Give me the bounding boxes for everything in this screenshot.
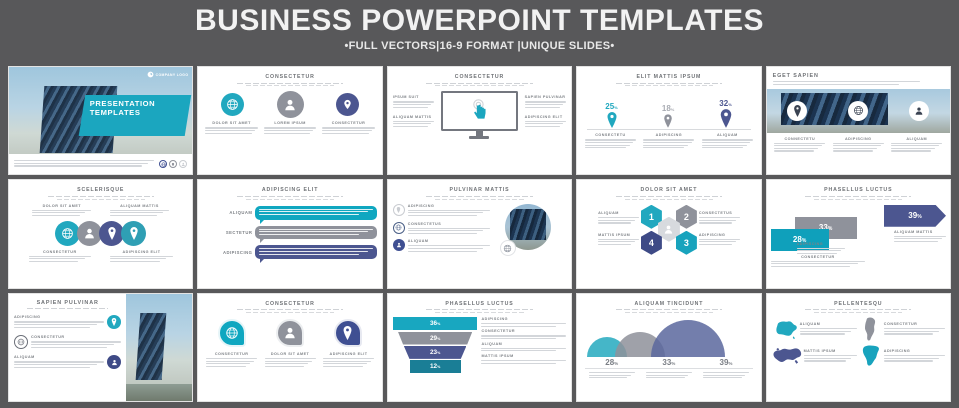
- africa-map-icon: [860, 344, 882, 368]
- item-body: [598, 217, 639, 223]
- bubble-tail: [260, 258, 265, 263]
- pin-icon[interactable]: [336, 93, 359, 116]
- title-underline: [616, 83, 722, 84]
- value-unit: %: [437, 337, 440, 341]
- item-body: [771, 261, 866, 267]
- map-cell[interactable]: CONSECTETUR: [860, 317, 945, 341]
- pin-item[interactable]: 25%: [605, 102, 617, 128]
- circle-labels: DOLOR SIT AMET LOREM IPSUM CONSECTETUR: [198, 118, 381, 135]
- item-label: ADIPISCING ELIT: [525, 115, 567, 119]
- hex-number: 2: [684, 212, 689, 222]
- list-item: ADIPISCING: [481, 317, 566, 327]
- bubble-text: [259, 229, 372, 235]
- title-underline: [426, 83, 532, 84]
- item-body: [884, 328, 945, 334]
- circle-row: [198, 91, 381, 118]
- item-body: [702, 139, 753, 148]
- hex-number: 4: [649, 238, 654, 248]
- round-photo-wrap: [490, 204, 566, 253]
- item-label: MATTIS IPSUM: [598, 233, 639, 237]
- item-body: [32, 210, 91, 216]
- arrow-stack: 39% 33% 28% ALIQUAM MATTIS ADIPISCING: [767, 203, 950, 255]
- left-labels: ALIQUAM MATTIS IPSUM: [598, 211, 639, 246]
- title-underline: [426, 309, 532, 310]
- title-underline: [805, 196, 911, 197]
- slide-presentation-cover[interactable]: COMPANY LOGO PRESENTATION TEMPLATES: [8, 66, 193, 175]
- list-item: ALIQUAM MATTIS: [110, 204, 169, 218]
- slide-aliquam-tincidunt[interactable]: ALIQUAM TINCIDUNT 28% 33% 39%: [576, 293, 761, 402]
- value-number: 32: [719, 99, 728, 108]
- user-icon[interactable]: [277, 91, 304, 118]
- slide-dolor-sit-amet-hex[interactable]: DOLOR SIT AMET ALIQUAM MATTIS IPSUM 1: [576, 179, 761, 288]
- slide-title: ALIQUAM TINCIDUNT: [577, 294, 760, 307]
- item-label: CONSECTETUR: [481, 329, 566, 333]
- value-number: 25: [605, 102, 614, 111]
- bubble-row[interactable]: SECTETUR: [203, 226, 376, 240]
- pinshape-labels: CONSECTETUR DOLOR SIT AMET ADIPISCING EL…: [198, 347, 381, 368]
- item-label: ADIPISCING: [884, 349, 945, 353]
- bubble-text: [259, 248, 372, 254]
- poster-page: BUSINESS POWERPOINT TEMPLATES •FULL VECT…: [0, 0, 959, 408]
- item-label: ALIQUAM: [702, 133, 753, 137]
- item-body: [481, 335, 566, 339]
- list-item: ALIQUAM: [481, 342, 566, 352]
- page-title: BUSINESS POWERPOINT TEMPLATES: [0, 4, 959, 38]
- item-label: IPSUM SUIT: [393, 95, 435, 99]
- item-label: SAPIEN PULVINAR: [525, 95, 567, 99]
- value-unit: %: [437, 365, 440, 369]
- arrow-3[interactable]: 39%: [884, 205, 946, 227]
- content-row: ADIPISCING CONSECTETUS: [388, 200, 571, 253]
- funnel-segment-1[interactable]: 36%: [393, 317, 478, 330]
- item-body: [525, 101, 567, 107]
- company-logo-label: COMPANY LOGO: [156, 73, 189, 77]
- cover-icon-row: [159, 160, 187, 168]
- left-column: SAPIEN PULVINAR ADIPISCING: [9, 294, 126, 401]
- cover-footer: [9, 154, 192, 174]
- semicircle-values: 28% 33% 39%: [577, 357, 760, 367]
- monitor-illustration: [441, 91, 517, 139]
- item-label: ADIPISCING: [408, 204, 490, 208]
- band-icons: [767, 89, 950, 133]
- pin-icon: [606, 112, 618, 128]
- title-underline: [237, 196, 343, 197]
- list-item: CONSECTETUR: [322, 121, 375, 135]
- item-label: ALIQUAM: [800, 322, 857, 326]
- item-body: [481, 348, 566, 352]
- logo-mark-icon: [147, 71, 154, 78]
- hex-cluster: 1 2 4 3: [641, 203, 697, 255]
- value-unit: %: [728, 361, 732, 366]
- bubble-row[interactable]: ADIPISCING: [203, 245, 376, 259]
- slide-pulvinar-mattis[interactable]: PULVINAR MATTIS ADIPISCING: [387, 179, 572, 288]
- slide-title: CONSECTETUR: [198, 294, 381, 307]
- user-icon: [393, 239, 405, 251]
- list-item: CONSECTETUS: [699, 211, 740, 223]
- list-item: CONSECTETUR: [767, 255, 870, 267]
- cover-title-line2: TEMPLATES: [90, 108, 185, 117]
- bubble-label: ALIQUAM: [203, 210, 255, 215]
- right-items: SAPIEN PULVINAR ADIPISCING ELIT: [525, 91, 567, 128]
- list-item: ALIQUAM MATTIS: [393, 115, 435, 127]
- bubble-tail: [260, 238, 265, 243]
- value-number: 28: [605, 358, 614, 367]
- item-label: ADIPISCING: [643, 133, 694, 137]
- slide-grid: COMPANY LOGO PRESENTATION TEMPLATES: [0, 60, 959, 408]
- title-underline: [237, 83, 343, 84]
- slide-title: SAPIEN PULVINAR: [14, 300, 121, 306]
- pin-row: 25% 18% 32%: [577, 86, 760, 128]
- map-cell[interactable]: MATTIS IPSUM: [772, 344, 857, 368]
- user-icon[interactable]: [276, 319, 304, 347]
- item-body: [804, 355, 857, 361]
- pin-icon[interactable]: [121, 221, 146, 246]
- list-item: CONSECTETUR: [481, 329, 566, 339]
- item-label: ADIPISCING ELIT: [323, 352, 374, 356]
- item-body: [525, 121, 567, 127]
- value-number: 33: [662, 358, 671, 367]
- pin-value: 32%: [719, 99, 731, 109]
- semicircle-chart: [577, 317, 760, 357]
- item-body: [797, 248, 845, 254]
- item-label: ALIQUAM MATTIS: [894, 230, 946, 234]
- funnel-layout: 36% 29% 23% 12% ADIPISCING: [388, 313, 571, 373]
- slide-header: EGET SAPIEN: [767, 67, 950, 85]
- item-body: [643, 139, 694, 148]
- bubble-body: [255, 206, 376, 220]
- value-unit: %: [614, 105, 618, 110]
- circle-row: [9, 221, 192, 246]
- funnel-segment-3[interactable]: 23%: [404, 346, 467, 359]
- slide-title: EGET SAPIEN: [773, 73, 944, 79]
- hand-pointer-icon: [468, 99, 490, 123]
- slide-scelerisque[interactable]: SCELERISQUE DOLOR SIT AMET ALIQUAM MATTI…: [8, 179, 193, 288]
- list-item: MATTIS IPSUM: [598, 233, 639, 245]
- item-label: ALIQUAM: [14, 355, 104, 359]
- hex-number: 3: [684, 238, 689, 248]
- item-label: CONSECTETUS: [408, 222, 490, 226]
- globe-icon[interactable]: [848, 101, 868, 121]
- title-underline: [27, 308, 109, 309]
- list-item: CONNECTETU: [774, 137, 825, 153]
- monitor-screen: [441, 91, 517, 131]
- australia-map-icon: [772, 318, 798, 340]
- page-subtitle: •FULL VECTORS|16-9 FORMAT |UNIQUE SLIDES…: [0, 40, 959, 52]
- item-label: ADIPISCING: [797, 242, 845, 246]
- globe-icon[interactable]: [221, 93, 244, 116]
- list-item: DOLOR SIT AMET: [265, 352, 316, 368]
- item-label: CONSECTETUS: [699, 211, 740, 215]
- pinshape-row: [198, 319, 381, 347]
- item-label: MATTIS IPSUM: [804, 349, 857, 353]
- list-item: CONSECTETUR: [206, 352, 257, 368]
- title-underline-2: [625, 312, 713, 313]
- list-item[interactable]: ALIQUAM: [393, 239, 490, 253]
- item-body: [205, 127, 258, 133]
- item-body: [29, 256, 91, 262]
- list-item[interactable]: CONSECTETUS: [393, 222, 490, 236]
- list-item: ADIPISCING: [699, 233, 740, 245]
- pin-labels: CONSECTETU ADIPISCING ALIQUAM: [577, 130, 760, 149]
- cover-title-line1: PRESENTATION: [90, 99, 185, 108]
- slide-title: CONSECTETUR: [198, 67, 381, 80]
- bubble-tail: [260, 219, 265, 224]
- company-logo: COMPANY LOGO: [147, 71, 189, 78]
- item-body: [589, 372, 635, 380]
- pin-item[interactable]: 32%: [719, 99, 733, 128]
- item-body: [322, 127, 375, 133]
- slide-title: ADIPISCING ELIT: [198, 180, 381, 193]
- item-body: [110, 210, 169, 216]
- slide-title: PELLENTESQU: [767, 294, 950, 307]
- pin-value: 18%: [662, 104, 674, 114]
- slide-phasellus-arrows[interactable]: PHASELLUS LUCTUS 39% 33% 28% ALIQUAM MAT…: [766, 179, 951, 288]
- list-item: ALIQUAM MATTIS: [894, 230, 946, 244]
- item-label: CONSECTETUR: [31, 335, 121, 339]
- item-body: [31, 341, 121, 347]
- list-item: IPSUM SUIT: [393, 95, 435, 107]
- slide-consectetur-pins[interactable]: CONSECTETUR CONSECTETUR: [197, 293, 382, 402]
- right-labels: CONSECTETUS ADIPISCING: [699, 211, 740, 246]
- value-1: 28%: [605, 358, 618, 367]
- bubble-text: [259, 209, 372, 215]
- user-icon: [179, 160, 187, 168]
- list-item: CONSECTETU: [585, 133, 636, 149]
- pin-icon: [169, 160, 177, 168]
- list-item: ADIPISCING ELIT: [323, 352, 374, 368]
- list-item: DOLOR SIT AMET: [205, 121, 258, 135]
- value-unit: %: [437, 322, 440, 326]
- item-label: ALIQUAM MATTIS: [110, 204, 169, 208]
- south-america-map-icon: [860, 317, 882, 341]
- item-label: MATTIS IPSUM: [481, 354, 566, 358]
- list-item: MATTIS IPSUM: [481, 354, 566, 364]
- globe-icon[interactable]: [218, 319, 246, 347]
- pin-icon: [663, 114, 673, 128]
- value-2: 33%: [662, 358, 675, 367]
- semicircle-3[interactable]: [651, 320, 725, 357]
- item-label: DOLOR SIT AMET: [265, 352, 316, 356]
- slide-title: PHASELLUS LUCTUS: [767, 180, 950, 193]
- list-item: ADIPISCING ELIT: [525, 115, 567, 127]
- item-label: ALIQUAM: [481, 342, 566, 346]
- value-unit: %: [614, 361, 618, 366]
- band-photo: [767, 89, 950, 133]
- item-label: ALIQUAM: [408, 239, 490, 243]
- title-underline: [426, 196, 532, 197]
- title-underline: [237, 309, 343, 310]
- pin-icon: [719, 109, 733, 128]
- monitor-base: [469, 136, 489, 139]
- semicircle-captions: [577, 369, 760, 380]
- title-underline: [616, 309, 722, 310]
- list-item: CONSECTETUR: [29, 250, 91, 264]
- item-body: [206, 358, 257, 367]
- item-body: [408, 228, 490, 234]
- title-underline-2: [814, 199, 902, 200]
- item-body: [14, 321, 104, 327]
- item-body: [585, 139, 636, 148]
- item-body: [323, 358, 374, 367]
- list-item[interactable]: ALIQUAM: [14, 355, 121, 369]
- funnel-segment-2[interactable]: 29%: [398, 332, 473, 345]
- item-body: [833, 143, 884, 152]
- list-item: ALIQUAM: [891, 137, 942, 153]
- bubble-body: [255, 245, 376, 259]
- slide-adipiscing-bubbles[interactable]: ADIPISCING ELIT ALIQUAM SECTETUR: [197, 179, 382, 288]
- item-body: [894, 236, 946, 242]
- value-unit: %: [671, 361, 675, 366]
- item-label: CONSECTETUR: [206, 352, 257, 356]
- item-body: [110, 256, 172, 262]
- value-unit: %: [671, 107, 675, 112]
- list-item: ADIPISCING: [643, 133, 694, 149]
- item-body: [699, 217, 740, 223]
- globe-icon: [14, 335, 28, 349]
- left-items: IPSUM SUIT ALIQUAM MATTIS: [393, 91, 435, 128]
- item-label: ADIPISCING: [481, 317, 566, 321]
- value-3: 39%: [720, 358, 733, 367]
- list-item[interactable]: ADIPISCING: [393, 204, 490, 218]
- band-labels: CONNECTETU ADIPISCING ALIQUAM: [767, 133, 950, 153]
- item-label: DOLOR SIT AMET: [32, 204, 91, 208]
- slide-eget-sapien[interactable]: EGET SAPIEN CONNECTET: [766, 66, 951, 175]
- item-label: ALIQUAM MATTIS: [393, 115, 435, 119]
- list-item: ADIPISCING: [833, 137, 884, 153]
- bubble-label: ADIPISCING: [203, 250, 255, 255]
- value-unit: %: [728, 102, 732, 107]
- value-number: 39: [908, 211, 917, 220]
- item-label: LOREM IPSUM: [264, 121, 317, 125]
- title-underline: [48, 196, 154, 197]
- icon-list: ADIPISCING CONSECTETUS: [393, 204, 490, 253]
- pin-icon: [107, 315, 121, 329]
- item-label: DOLOR SIT AMET: [205, 121, 258, 125]
- item-label: CONSECTETUR: [322, 121, 375, 125]
- bubble-list: ALIQUAM SECTETUR: [198, 200, 381, 259]
- bubble-row[interactable]: ALIQUAM: [203, 206, 376, 220]
- pin-value: 25%: [605, 102, 617, 112]
- slide-phasellus-funnel[interactable]: PHASELLUS LUCTUS 36% 29% 23% 12%: [387, 293, 572, 402]
- item-label: ADIPISCING: [699, 233, 740, 237]
- cover-footer-text: [14, 160, 159, 168]
- globe-icon: [393, 222, 405, 234]
- globe-icon: [159, 160, 167, 168]
- list-item: ALIQUAM: [598, 211, 639, 223]
- item-body: [264, 127, 317, 133]
- title-underline: [616, 196, 722, 197]
- pin-icon: [393, 204, 405, 216]
- funnel-segment-4[interactable]: 12%: [410, 360, 461, 373]
- item-label: CONSECTETUR: [884, 322, 945, 326]
- title-underline-2: [246, 85, 334, 86]
- bottom-labels: CONSECTETUR ADIPISCING ELIT: [9, 246, 192, 264]
- eurasia-map-icon: [772, 345, 802, 367]
- pin-icon[interactable]: [334, 319, 362, 347]
- item-body: [14, 361, 104, 367]
- item-body: [774, 143, 825, 152]
- slide-pellentesqu-maps[interactable]: PELLENTESQU ALIQUAM: [766, 293, 951, 402]
- value-unit: %: [917, 214, 921, 220]
- funnel-labels: ADIPISCING CONSECTETUR ALIQUAM MATTIS IP…: [481, 317, 566, 373]
- item-label: ALIQUAM: [891, 137, 942, 141]
- hex-layout: ALIQUAM MATTIS IPSUM 1 2 4 3: [577, 200, 760, 255]
- item-label: ADIPISCING: [833, 137, 884, 141]
- slide-title: DOLOR SIT AMET: [577, 180, 760, 193]
- monitor-layout: IPSUM SUIT ALIQUAM MATTIS: [388, 86, 571, 139]
- item-body: [393, 121, 435, 127]
- value-number: 23: [430, 349, 437, 356]
- item-label: ADIPISCING ELIT: [110, 250, 172, 254]
- split-layout: SAPIEN PULVINAR ADIPISCING: [9, 294, 192, 401]
- map-cell[interactable]: ALIQUAM: [772, 317, 857, 341]
- pin-icon[interactable]: [787, 101, 807, 121]
- slide-title: SCELERISQUE: [9, 180, 192, 193]
- cover-title: PRESENTATION TEMPLATES: [90, 99, 185, 117]
- list-item[interactable]: ADIPISCING: [14, 315, 121, 329]
- bubble-label: SECTETUR: [203, 230, 255, 235]
- list-item: LOREM IPSUM: [264, 121, 317, 135]
- title-underline-2: [246, 312, 334, 313]
- item-body: [408, 210, 490, 216]
- map-cell[interactable]: ADIPISCING: [860, 344, 945, 368]
- item-body: [800, 328, 857, 334]
- poster-header: BUSINESS POWERPOINT TEMPLATES •FULL VECT…: [0, 0, 959, 60]
- slide-consectetur-monitor[interactable]: CONSECTETUR IPSUM SUIT ALIQUAM MATTIS: [387, 66, 572, 175]
- user-icon[interactable]: [909, 101, 929, 121]
- slide-title: CONSECTETUR: [388, 67, 571, 80]
- item-body: [481, 360, 566, 364]
- list-item: ADIPISCING: [797, 242, 845, 256]
- item-body: [699, 239, 740, 245]
- slide-title: ELIT MATTIS IPSUM: [577, 67, 760, 80]
- side-photo: [126, 294, 192, 401]
- list-item: DOLOR SIT AMET: [32, 204, 91, 218]
- item-body: [408, 245, 490, 251]
- slide-sapien-pulvinar[interactable]: SAPIEN PULVINAR ADIPISCING: [8, 293, 193, 402]
- list-item[interactable]: CONSECTETUR: [14, 335, 121, 349]
- bubble-body: [255, 226, 376, 240]
- item-label: CONSECTETUR: [29, 250, 91, 254]
- pin-item[interactable]: 18%: [662, 104, 674, 128]
- item-body: [884, 355, 945, 361]
- value-unit: %: [437, 351, 440, 355]
- slide-subtext: [773, 81, 944, 85]
- funnel-bars: 36% 29% 23% 12%: [393, 317, 478, 373]
- slide-consectetur-circles[interactable]: CONSECTETUR DOLOR SIT AMET: [197, 66, 382, 175]
- item-label: CONSECTETU: [585, 133, 636, 137]
- value-number: 29: [430, 335, 437, 342]
- map-grid: ALIQUAM CONSECTETUR: [767, 313, 950, 368]
- item-body: [703, 372, 749, 380]
- list-item: ADIPISCING ELIT: [110, 250, 172, 264]
- item-label: ADIPISCING: [14, 315, 104, 319]
- slide-title: PHASELLUS LUCTUS: [388, 294, 571, 307]
- slide-title: PULVINAR MATTIS: [388, 180, 571, 193]
- item-body: [598, 239, 639, 245]
- item-label: CONNECTETU: [774, 137, 825, 141]
- item-body: [646, 372, 692, 380]
- slide-elit-mattis-pins[interactable]: ELIT MATTIS IPSUM 25% 18% 32%: [576, 66, 761, 175]
- list-item: ALIQUAM: [702, 133, 753, 149]
- item-body: [265, 358, 316, 367]
- globe-icon: [500, 240, 516, 256]
- item-body: [393, 101, 435, 107]
- item-label: ALIQUAM: [598, 211, 639, 215]
- item-body: [891, 143, 942, 152]
- user-icon: [107, 355, 121, 369]
- value-number: 18: [662, 104, 671, 113]
